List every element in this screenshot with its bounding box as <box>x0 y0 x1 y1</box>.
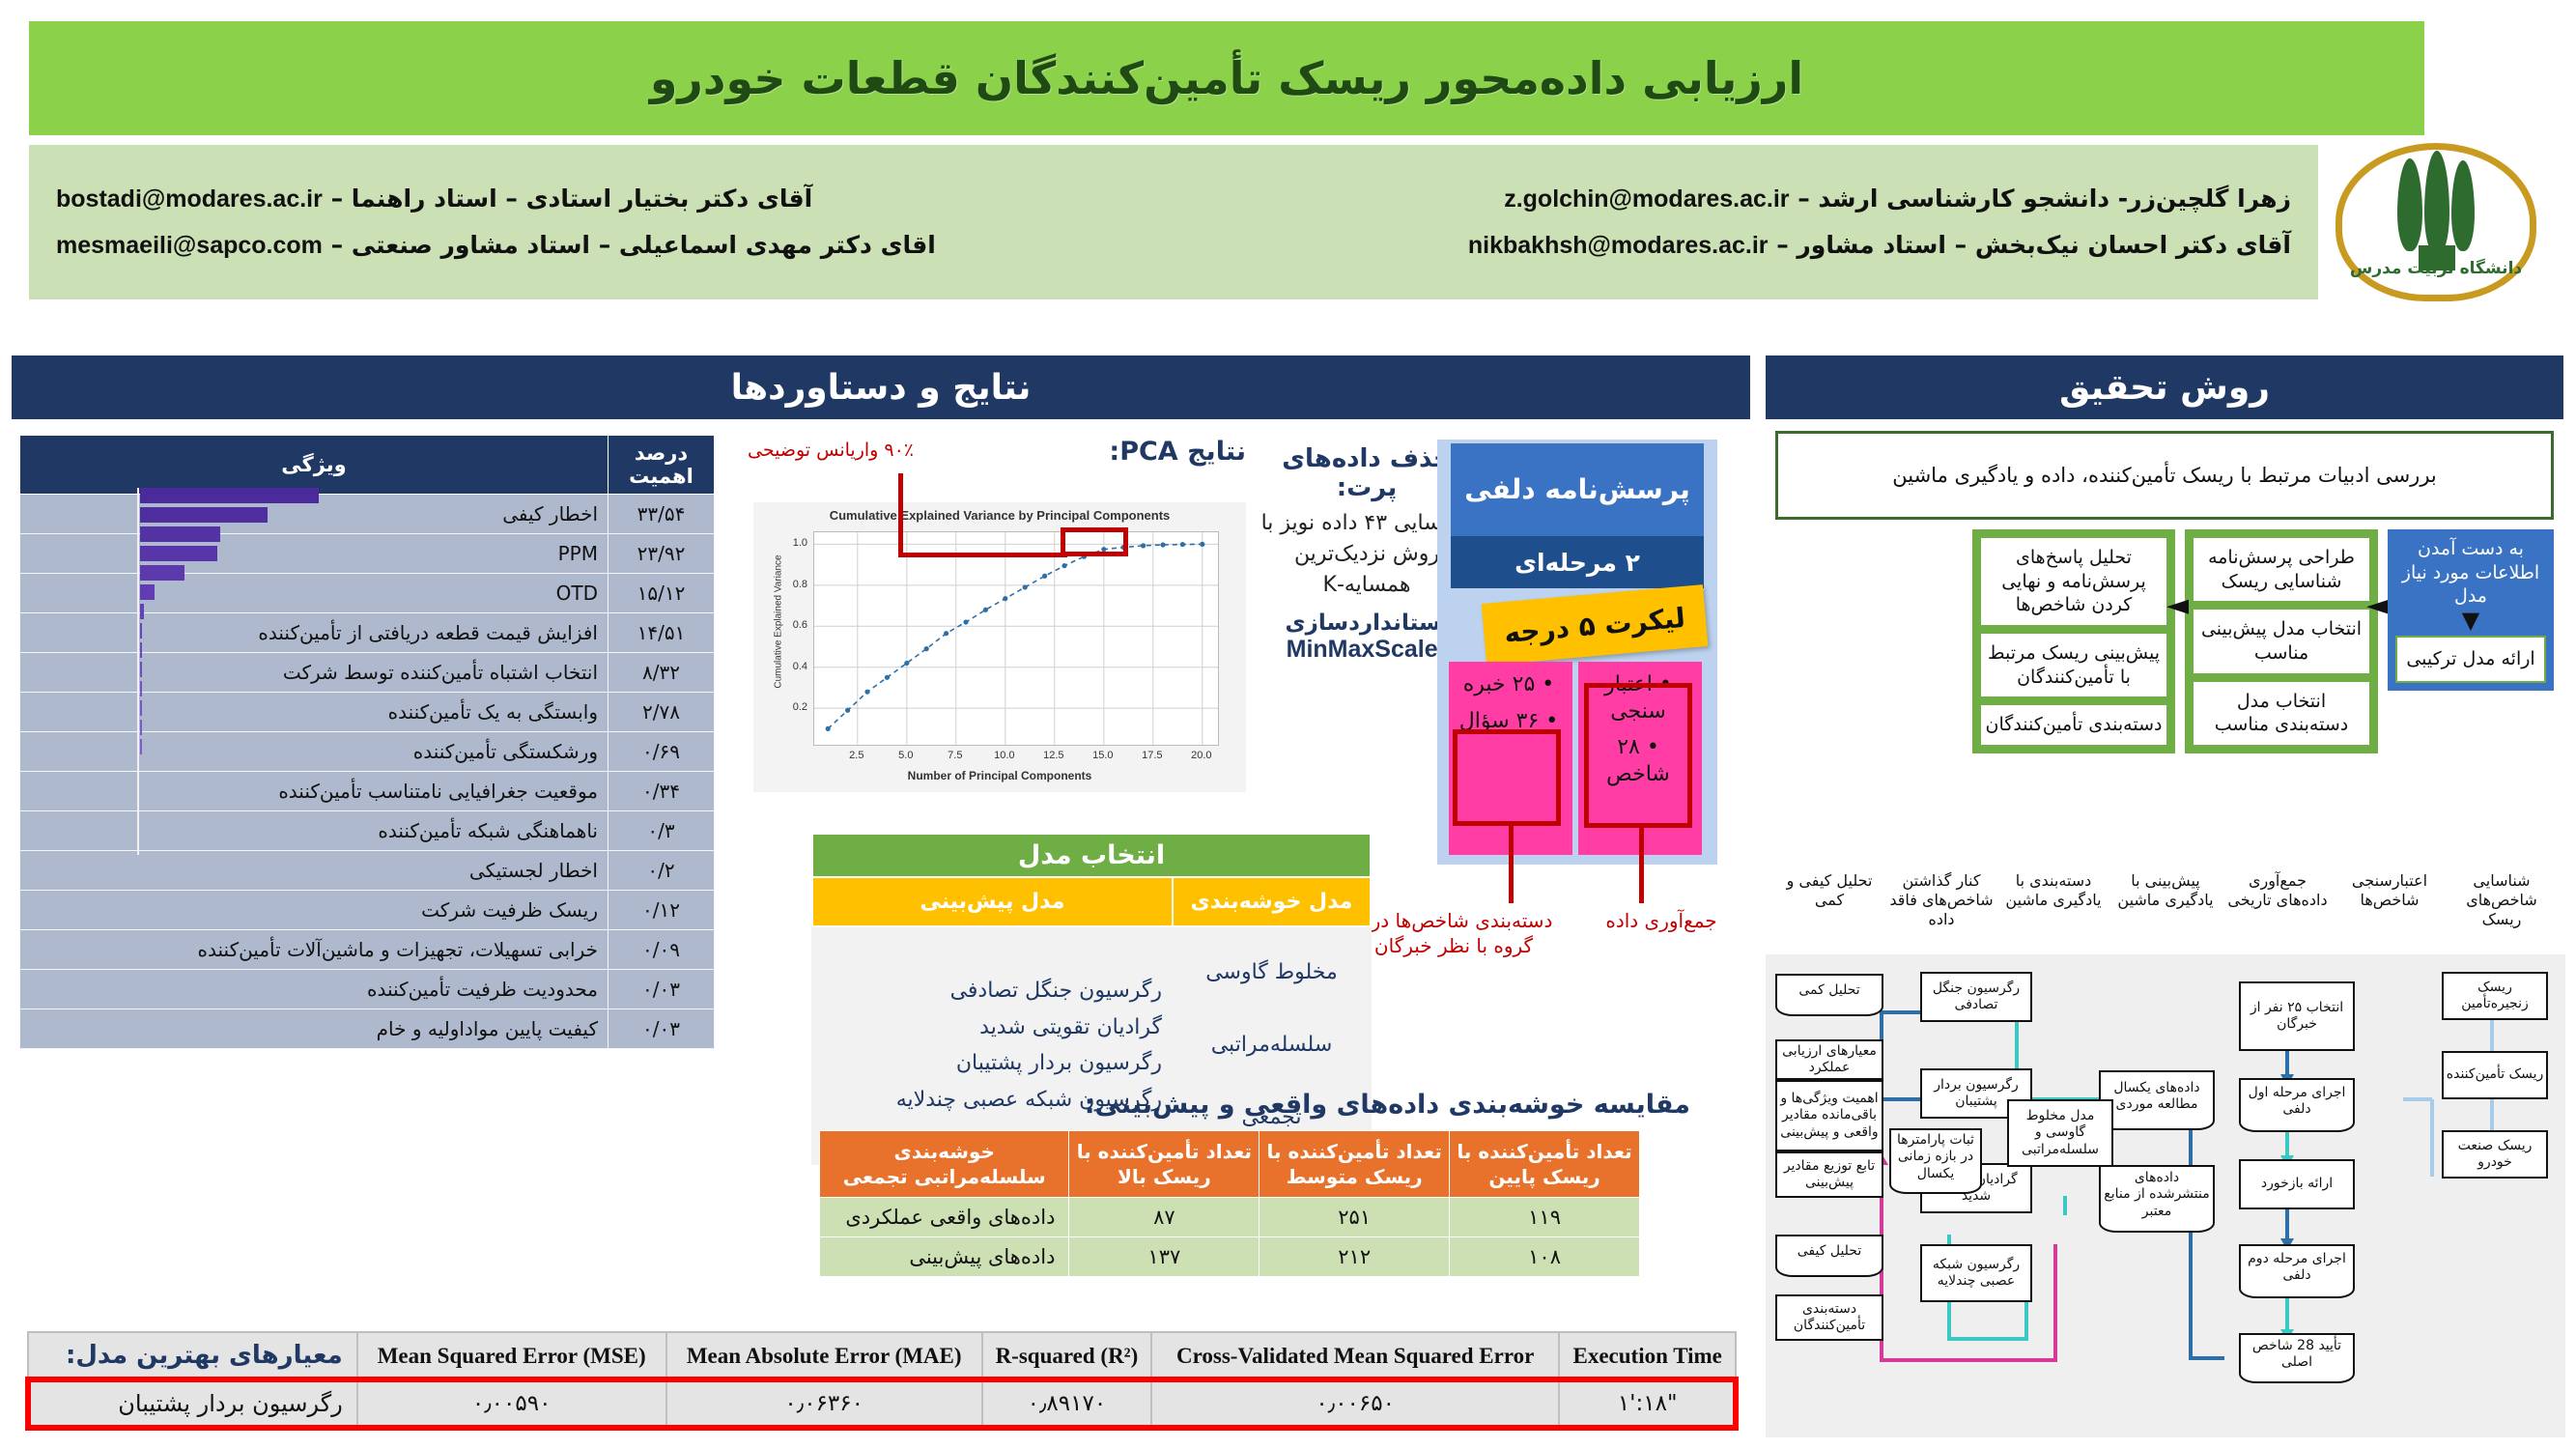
flow-node-rf: رگرسیون جنگل تصادفی <box>1920 972 2032 1022</box>
metrics-header-row: Execution Time Cross-Validated Mean Squa… <box>28 1332 1736 1379</box>
flow-node-dist-fn: تابع توزیع مقادیر پیش‌بینی <box>1775 1151 1883 1198</box>
col-header-percent: درصد اهمیت <box>609 436 715 495</box>
cell-percent: ۰/۲ <box>609 851 715 891</box>
cell-feature: ریسک ظرفیت شرکت <box>20 891 609 930</box>
feature-importance-table: درصد اهمیت ویژگی ۳۳/۵۴اخطار کیفی۲۳/۹۲PPM… <box>19 435 715 1049</box>
questionnaire-stages: ۲ مرحله‌ای <box>1451 536 1704 588</box>
authors-band: زهرا گلچین‌زر- دانشجو کارشناسی ارشد – z.… <box>29 145 2318 299</box>
cell-feature: ناهماهنگی شبکه تأمین‌کننده <box>20 811 609 851</box>
y-tick-label: 1.0 <box>782 537 807 549</box>
author-left-2: اقای دکتر مهدی اسماعیلی – استاد مشاور صن… <box>56 231 936 260</box>
pca-plot-area <box>813 531 1219 746</box>
y-tick-label: 0.6 <box>782 619 807 631</box>
table-row: ۰/۰۹خرابی تسهیلات، تجهیزات و ماشین‌آلات … <box>20 930 715 970</box>
prediction-model-item: رگرسیون جنگل تصادفی <box>823 973 1162 1009</box>
flow-node-stability: ثبات پارامترها در بازه زمانی یکسال <box>1889 1128 1982 1194</box>
flow-node-delphi1: اجرای مرحله اول دلفی <box>2239 1078 2355 1132</box>
pca-line-svg <box>814 532 1218 745</box>
metric-r2: ۰٫۸۹۱۷۰ <box>982 1379 1151 1428</box>
col-header-clustering: مدل خوشه‌بندی <box>1173 877 1371 926</box>
model-selection-title: انتخاب مدل <box>812 834 1371 877</box>
method-phase-label: اعتبارسنجی شاخص‌ها <box>2334 869 2446 939</box>
flow-node-data-pub: داده‌های منتشرشده از منابع معتبر <box>2099 1165 2215 1233</box>
x-tick-label: 15.0 <box>1092 750 1113 761</box>
pca-callout-arm <box>898 553 1067 557</box>
university-logo: دانشگاه تربیت مدرس <box>2318 137 2555 306</box>
comparison-col-header: خوشه‌بندی سلسله‌مراتبی تجمعی <box>820 1131 1069 1198</box>
method-phase-label: دسته‌بندی با یادگیری ماشین <box>1997 869 2109 939</box>
cell-percent: ۰/۶۹ <box>609 732 715 772</box>
poster-title: ارزیابی داده‌محور ریسک تأمین‌کنندگان قطع… <box>650 52 1803 104</box>
method-step-box: پیش‌بینی ریسک مرتبط با تأمین‌کنندگان <box>1981 634 2166 696</box>
comparison-cell-high: ۸۷ <box>1069 1198 1260 1237</box>
flow-node-qual: تحلیل کیفی <box>1775 1235 1883 1277</box>
cell-percent: ۰/۱۲ <box>609 891 715 930</box>
comparison-cell-high: ۱۳۷ <box>1069 1237 1260 1277</box>
flow-node-delphi2: اجرای مرحله دوم دلفی <box>2239 1244 2355 1298</box>
metrics-value-row: ۱':۱۸" ۰٫۰۰۶۵۰ ۰٫۸۹۱۷۰ ۰٫۰۶۳۶۰ ۰٫۰۰۵۹۰ ر… <box>28 1379 1736 1428</box>
cell-percent: ۳۳/۵۴ <box>609 495 715 534</box>
clustering-models-cell: مخلوط گاوسیسلسله‌مراتبی تجمعی <box>1173 926 1371 1164</box>
col-header-feature: ویژگی <box>20 436 609 495</box>
comparison-cell-low: ۱۰۸ <box>1450 1237 1640 1277</box>
questionnaire-item: ۲۵ خبره <box>1453 671 1565 698</box>
comparison-cell-label: داده‌های پیش‌بینی <box>820 1237 1069 1277</box>
callout-line-left <box>1509 826 1514 903</box>
table-row: ۱۴/۵۱افزایش قیمت قطعه دریافتی از تأمین‌ک… <box>20 613 715 653</box>
metrics-title: معیارهای بهترین مدل: <box>28 1332 357 1379</box>
table-row: ۱۱۹۲۵۱۸۷داده‌های واقعی عملکردی <box>820 1198 1640 1237</box>
arrow-right-icon: ◄ <box>2166 591 2189 620</box>
cell-feature: اخطار کیفی <box>20 495 609 534</box>
table-row: ۰/۶۹ورشکستگی تأمین‌کننده <box>20 732 715 772</box>
cell-feature: OTD <box>20 574 609 613</box>
poster-title-banner: ارزیابی داده‌محور ریسک تأمین‌کنندگان قطع… <box>29 21 2424 135</box>
author-left-1: آقای دکتر بختیار استادی – استاد راهنما –… <box>56 185 812 213</box>
y-tick-label: 0.2 <box>782 701 807 713</box>
model-table-body-row: مخلوط گاوسیسلسله‌مراتبی تجمعی رگرسیون جن… <box>812 926 1371 1164</box>
metric-mse: ۰٫۰۰۵۹۰ <box>357 1379 666 1428</box>
cell-feature: افزایش قیمت قطعه دریافتی از تأمین‌کننده <box>20 613 609 653</box>
metric-exec-time: ۱':۱۸" <box>1559 1379 1736 1428</box>
method-column-right: طراحی پرسش‌نامه شناسایی ریسکانتخاب مدل پ… <box>2185 529 2378 753</box>
x-tick-label: 2.5 <box>849 750 863 761</box>
cell-feature: ورشکستگی تأمین‌کننده <box>20 732 609 772</box>
cell-feature: وابستگی به یک تأمین‌کننده <box>20 693 609 732</box>
table-row: ۱۰۸۲۱۲۱۳۷داده‌های پیش‌بینی <box>820 1237 1640 1277</box>
comparison-cell-label: داده‌های واقعی عملکردی <box>820 1198 1069 1237</box>
cell-feature: PPM <box>20 534 609 574</box>
method-outcome-caption: به دست آمدن اطلاعات مورد نیاز مدل <box>2395 537 2546 609</box>
annotation-data-collection: جمع‌آوری داده <box>1584 908 1739 933</box>
cell-percent: ۱۵/۱۲ <box>609 574 715 613</box>
questionnaire-block: پرسش‌نامه دلفی ۲ مرحله‌ای لیکرت ۵ درجه ا… <box>1437 440 1717 865</box>
pca-x-axis-label: Number of Principal Components <box>753 769 1246 782</box>
comparison-col-header: تعداد تأمین‌کننده با ریسک پایین <box>1450 1131 1640 1198</box>
cell-percent: ۰/۰۳ <box>609 970 715 1009</box>
prediction-model-item: گرادیان تقویتی شدید <box>823 1009 1162 1045</box>
cell-percent: ۸/۳۲ <box>609 653 715 693</box>
x-tick-label: 17.5 <box>1142 750 1162 761</box>
cell-feature: محدودیت ظرفیت تأمین‌کننده <box>20 970 609 1009</box>
table-row: ۸/۳۲انتخاب اشتباه تأمین‌کننده توسط شرکت <box>20 653 715 693</box>
cell-feature: اخطار لجستیکی <box>20 851 609 891</box>
method-phase-strip: شناسایی شاخص‌های ریسکاعتبارسنجی شاخص‌هاج… <box>1773 869 2558 939</box>
flow-node-cluster-suppliers: دسته‌بندی تأمین‌کنندگان <box>1775 1294 1883 1341</box>
cell-feature: خرابی تسهیلات، تجهیزات و ماشین‌آلات تأمی… <box>20 930 609 970</box>
x-tick-label: 12.5 <box>1043 750 1063 761</box>
method-step-box: انتخاب مدل پیش‌بینی مناسب <box>2194 610 2369 672</box>
metric-header-r2: R-squared (R²) <box>982 1332 1151 1379</box>
method-phase-label: شناسایی شاخص‌های ریسک <box>2446 869 2558 939</box>
metric-header-mse: Mean Squared Error (MSE) <box>357 1332 666 1379</box>
highlight-box-questions <box>1453 729 1561 826</box>
comparison-col-header: تعداد تأمین‌کننده با ریسک متوسط <box>1260 1131 1450 1198</box>
x-tick-label: 5.0 <box>898 750 913 761</box>
author-row: آقای دکتر احسان نیک‌بخش – استاد مشاور – … <box>56 231 2291 260</box>
comparison-cell-mid: ۲۱۲ <box>1260 1237 1450 1277</box>
table-row: ۰/۲اخطار لجستیکی <box>20 851 715 891</box>
comparison-title: مقایسه خوشه‌بندی داده‌های واقعی و پیش‌بی… <box>821 1090 1690 1120</box>
arrow-down-icon: ▼ <box>2395 609 2546 632</box>
flow-node-feat-importance: اهمیت ویژگی‌ها و باقی‌مانده مقادیر واقعی… <box>1775 1080 1883 1151</box>
table-row: ۰/۰۳کیفیت پایین مواداولیه و خام <box>20 1009 715 1049</box>
metric-header-exec-time: Execution Time <box>1559 1332 1736 1379</box>
author-right-1: زهرا گلچین‌زر- دانشجو کارشناسی ارشد – z.… <box>1504 185 2291 213</box>
x-tick-label: 10.0 <box>994 750 1014 761</box>
flow-node-quant: تحلیل کمی <box>1775 974 1883 1016</box>
pca-callout-stem <box>898 473 903 556</box>
x-tick-label: 20.0 <box>1191 750 1211 761</box>
cell-percent: ۰/۰۹ <box>609 930 715 970</box>
method-column-mid: تحلیل پاسخ‌های پرسش‌نامه و نهایی کردن شا… <box>1972 529 2175 753</box>
y-tick-label: 0.8 <box>782 579 807 590</box>
pca-section-title: نتایج PCA: <box>956 437 1246 467</box>
cell-percent: ۰/۰۳ <box>609 1009 715 1049</box>
cell-percent: ۰/۳۴ <box>609 772 715 811</box>
table-row: ۱۵/۱۲OTD <box>20 574 715 613</box>
cell-percent: ۰/۳ <box>609 811 715 851</box>
cell-feature: موقعیت جغرافیایی نامتناسب تأمین‌کننده <box>20 772 609 811</box>
flow-node-perf-metrics: معیارهای ارزیابی عملکرد <box>1775 1039 1883 1080</box>
flow-node-risk-chain: ریسک زنجیره‌تأمین <box>2442 972 2548 1020</box>
flow-node-gmm-hier: مدل مخلوط گاوسی و سلسله‌مراتبی <box>2007 1099 2113 1167</box>
col-header-prediction: مدل پیش‌بینی <box>812 877 1173 926</box>
flow-node-risk-auto: ریسک صنعت خودرو <box>2442 1130 2548 1179</box>
method-phase-label: جمع‌آوری داده‌های تاریخی <box>2222 869 2334 939</box>
table-row: ۳۳/۵۴اخطار کیفی <box>20 495 715 534</box>
questionnaire-title: پرسش‌نامه دلفی <box>1451 443 1704 536</box>
metric-header-cv-mse: Cross-Validated Mean Squared Error <box>1151 1332 1559 1379</box>
author-right-2: آقای دکتر احسان نیک‌بخش – استاد مشاور – … <box>1468 231 2291 260</box>
flow-node-select-experts: انتخاب ۲۵ نفر از خبرگان <box>2239 981 2355 1051</box>
metric-header-mae: Mean Absolute Error (MAE) <box>666 1332 982 1379</box>
pca-chart-title: Cumulative Explained Variance by Princip… <box>753 508 1246 523</box>
pca-chart-card: Cumulative Explained Variance by Princip… <box>753 502 1246 792</box>
metric-cv-mse: ۰٫۰۰۶۵۰ <box>1151 1379 1559 1428</box>
metric-mae: ۰٫۰۶۳۶۰ <box>666 1379 982 1428</box>
flow-node-confirm28: تأیید 28 شاخص اصلی <box>2239 1333 2355 1383</box>
comparison-header-row: تعداد تأمین‌کننده با ریسک پایینتعداد تأم… <box>820 1131 1640 1198</box>
table-row: ۲۳/۹۲PPM <box>20 534 715 574</box>
author-row: زهرا گلچین‌زر- دانشجو کارشناسی ارشد – z.… <box>56 185 2291 213</box>
method-outcome-column: به دست آمدن اطلاعات مورد نیاز مدل ▼ ارائ… <box>2388 529 2554 691</box>
flow-node-data-case: داده‌های یکسال مطالعه موردی <box>2099 1070 2215 1130</box>
table-header-row: درصد اهمیت ویژگی <box>20 436 715 495</box>
method-phase-label: کنار گذاشتن شاخص‌های فاقد داده <box>1885 869 1997 939</box>
flow-node-risk-supplier: ریسک تأمین‌کننده <box>2442 1051 2548 1099</box>
method-intro-box: بررسی ادبیات مرتبط با ریسک تأمین‌کننده، … <box>1775 431 2554 520</box>
metric-best-model-name: رگرسیون بردار پشتیبان <box>28 1379 357 1428</box>
clustering-model-item: مخلوط گاوسی <box>1183 937 1360 1009</box>
method-step-box: طراحی پرسش‌نامه شناسایی ریسک <box>2194 538 2369 601</box>
cell-feature: انتخاب اشتباه تأمین‌کننده توسط شرکت <box>20 653 609 693</box>
flow-node-mlp: رگرسیون شبکه عصبی چندلایه <box>1920 1244 2032 1302</box>
arrow-right-icon: ◄ <box>2366 591 2389 620</box>
annotation-indicator-grouping: دسته‌بندی شاخص‌ها در ۶ گروه با نظر خبرگا… <box>1343 908 1565 958</box>
cell-percent: ۲۳/۹۲ <box>609 534 715 574</box>
pca-variance-annotation: ۹۰٪ واریانس توضیحی <box>744 440 918 463</box>
model-table-title-row: انتخاب مدل <box>812 834 1371 877</box>
table-row: ۰/۱۲ریسک ظرفیت شرکت <box>20 891 715 930</box>
comparison-col-header: تعداد تأمین‌کننده با ریسک بالا <box>1069 1131 1260 1198</box>
method-step-box: انتخاب مدل دسته‌بندی مناسب <box>2194 682 2369 745</box>
method-step-box: تحلیل پاسخ‌های پرسش‌نامه و نهایی کردن شا… <box>1981 538 2166 625</box>
research-flowchart: ریسک زنجیره‌تأمینریسک تأمین‌کنندهریسک صن… <box>1766 954 2565 1437</box>
method-step-box: دسته‌بندی تأمین‌کنندگان <box>1981 705 2166 745</box>
flow-node-feedback: ارائه بازخورد <box>2239 1159 2355 1209</box>
table-row: ۰/۰۳محدودیت ظرفیت تأمین‌کننده <box>20 970 715 1009</box>
callout-line-right <box>1639 826 1644 903</box>
model-table-header-row: مدل خوشه‌بندی مدل پیش‌بینی <box>812 877 1371 926</box>
y-tick-label: 0.4 <box>782 661 807 672</box>
prediction-model-item: رگرسیون بردار پشتیبان <box>823 1045 1162 1081</box>
table-row: ۰/۳۴موقعیت جغرافیایی نامتناسب تأمین‌کنند… <box>20 772 715 811</box>
pca-highlight-box <box>1061 527 1128 556</box>
comparison-cell-low: ۱۱۹ <box>1450 1198 1640 1237</box>
method-outcome-box: ارائه مدل ترکیبی <box>2395 636 2546 683</box>
university-name: دانشگاه تربیت مدرس <box>2324 259 2548 278</box>
x-tick-label: 7.5 <box>948 750 962 761</box>
method-phase-label: پیش‌بینی با یادگیری ماشین <box>2109 869 2222 939</box>
method-panel-header: روش تحقیق <box>1766 355 2563 419</box>
results-panel-header: نتایج و دستاوردها <box>12 355 1750 419</box>
table-row: ۲/۷۸وابستگی به یک تأمین‌کننده <box>20 693 715 732</box>
table-row: ۰/۳ناهماهنگی شبکه تأمین‌کننده <box>20 811 715 851</box>
best-model-metrics-table: Execution Time Cross-Validated Mean Squa… <box>27 1331 1737 1429</box>
highlight-box-indicators <box>1584 683 1692 828</box>
likert-badge: لیکرت ۵ درجه <box>1482 584 1709 666</box>
cell-percent: ۲/۷۸ <box>609 693 715 732</box>
comparison-table: تعداد تأمین‌کننده با ریسک پایینتعداد تأم… <box>819 1130 1640 1277</box>
cell-percent: ۱۴/۵۱ <box>609 613 715 653</box>
prediction-models-cell: رگرسیون جنگل تصادفیگرادیان تقویتی شدیدرگ… <box>812 926 1173 1164</box>
cell-feature: کیفیت پایین مواداولیه و خام <box>20 1009 609 1049</box>
method-phase-label: تحلیل کیفی و کمی <box>1773 869 1885 939</box>
comparison-cell-mid: ۲۵۱ <box>1260 1198 1450 1237</box>
